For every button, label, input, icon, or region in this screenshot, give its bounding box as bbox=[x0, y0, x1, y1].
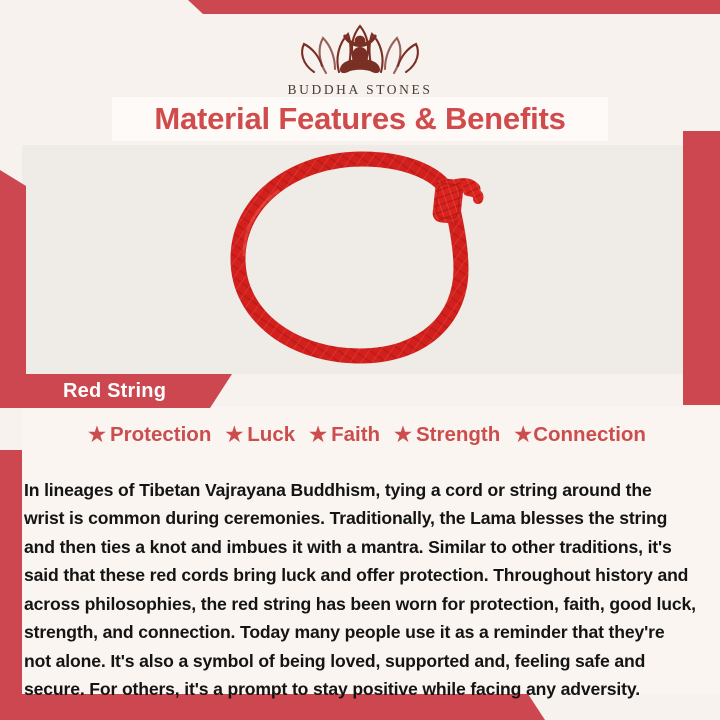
product-name: Red String bbox=[63, 380, 166, 403]
benefit-item-luck: ★ Luck bbox=[225, 423, 295, 447]
brand-logo: BUDDHA STONES bbox=[0, 16, 720, 98]
page-title: Material Features & Benefits bbox=[154, 101, 565, 137]
title-banner: Material Features & Benefits bbox=[112, 97, 608, 141]
bottom-left-red-rail bbox=[0, 450, 22, 720]
benefit-label: Faith bbox=[331, 423, 380, 447]
star-icon: ★ bbox=[309, 425, 327, 445]
benefit-item-connection: ★ Connection bbox=[514, 423, 646, 447]
lotus-meditation-icon bbox=[292, 16, 428, 80]
benefit-label: Strength bbox=[416, 423, 500, 447]
brand-name: BUDDHA STONES bbox=[0, 82, 720, 98]
benefit-item-strength: ★ Strength bbox=[394, 423, 500, 447]
infographic-page: BUDDHA STONES Material Features & Benefi… bbox=[0, 0, 720, 720]
star-icon: ★ bbox=[394, 425, 412, 445]
description-text: In lineages of Tibetan Vajrayana Buddhis… bbox=[24, 476, 696, 704]
product-image bbox=[22, 145, 683, 374]
benefit-label: Connection bbox=[533, 423, 646, 447]
star-icon: ★ bbox=[88, 425, 106, 445]
star-icon: ★ bbox=[225, 425, 243, 445]
benefit-label: Protection bbox=[110, 423, 211, 447]
benefit-label: Luck bbox=[247, 423, 295, 447]
product-name-banner: Red String bbox=[0, 374, 232, 408]
top-red-band bbox=[0, 0, 720, 14]
red-string-bracelet-illustration bbox=[218, 151, 488, 366]
benefits-list: ★ Protection ★ Luck ★ Faith ★ Strength ★… bbox=[22, 418, 712, 452]
right-red-bar bbox=[683, 131, 720, 405]
benefit-item-protection: ★ Protection bbox=[88, 423, 211, 447]
star-icon: ★ bbox=[514, 425, 532, 445]
benefit-item-faith: ★ Faith bbox=[309, 423, 380, 447]
